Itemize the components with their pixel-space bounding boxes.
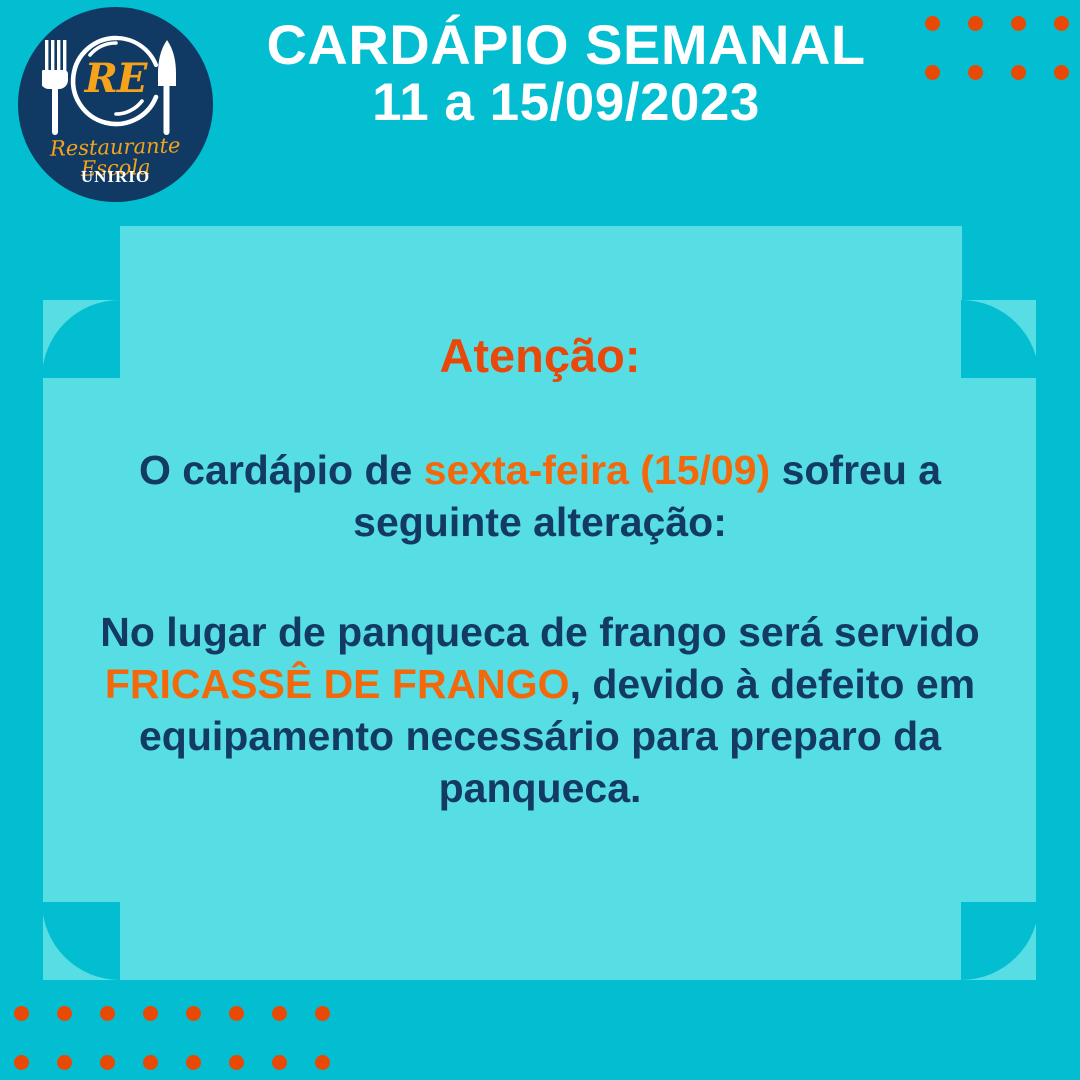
restaurante-escola-logo: RE Restaurante Escola UNIRIO xyxy=(18,7,213,202)
paragraph-1-part-1: O cardápio de xyxy=(139,447,424,493)
dot-grid-bottom-left xyxy=(14,1006,354,1080)
paragraph-2-highlight: FRICASSÊ DE FRANGO xyxy=(105,661,570,707)
notice-paragraph-1: O cardápio de sexta-feira (15/09) sofreu… xyxy=(90,444,990,548)
decor-dot xyxy=(186,1006,201,1021)
decor-dot xyxy=(1054,16,1069,31)
decor-dot xyxy=(143,1006,158,1021)
card-notch-bottom-left xyxy=(42,902,120,980)
decor-dot xyxy=(272,1006,287,1021)
notice-content: Atenção: O cardápio de sexta-feira (15/0… xyxy=(90,330,990,814)
dot-grid-top-right xyxy=(925,16,1080,96)
page-title: CARDÁPIO SEMANAL xyxy=(228,16,904,73)
decor-dot xyxy=(1011,65,1026,80)
decor-dot xyxy=(315,1006,330,1021)
decor-dot xyxy=(14,1055,29,1070)
decor-dot xyxy=(1011,16,1026,31)
decor-dot xyxy=(315,1055,330,1070)
decor-dot xyxy=(100,1006,115,1021)
paragraph-2-part-1: No lugar de panqueca de frango será serv… xyxy=(100,609,979,655)
decor-dot xyxy=(968,16,983,31)
logo-monogram: RE xyxy=(18,59,213,99)
logo-subtitle: UNIRIO xyxy=(18,167,213,187)
decor-dot xyxy=(186,1055,201,1070)
decor-dot xyxy=(925,65,940,80)
decor-dot xyxy=(272,1055,287,1070)
decor-dot xyxy=(968,65,983,80)
decor-dot xyxy=(57,1055,72,1070)
decor-dot xyxy=(925,16,940,31)
poster-header: CARDÁPIO SEMANAL 11 a 15/09/2023 xyxy=(228,16,904,132)
date-range: 11 a 15/09/2023 xyxy=(228,73,904,132)
decor-dot xyxy=(100,1055,115,1070)
decor-dot xyxy=(229,1006,244,1021)
decor-dot xyxy=(14,1006,29,1021)
decor-dot xyxy=(143,1055,158,1070)
attention-heading: Atenção: xyxy=(90,330,990,382)
notice-paragraph-2: No lugar de panqueca de frango será serv… xyxy=(90,606,990,814)
decor-dot xyxy=(57,1006,72,1021)
paragraph-1-highlight: sexta-feira (15/09) xyxy=(424,447,770,493)
decor-dot xyxy=(1054,65,1069,80)
card-notch-bottom-right xyxy=(961,902,1039,980)
decor-dot xyxy=(229,1055,244,1070)
